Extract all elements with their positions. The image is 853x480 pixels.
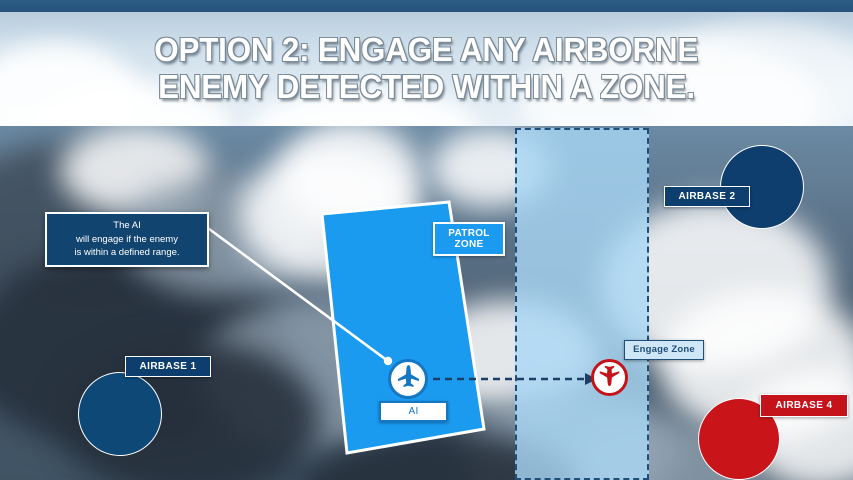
header-band <box>0 12 853 126</box>
top-accent-bar <box>0 0 853 12</box>
airbase-2-label[interactable]: AIRBASE 2 <box>664 186 750 207</box>
annotation-callout: The AI will engage if the enemy is withi… <box>45 212 209 267</box>
fighter-jet-blue-icon <box>395 363 422 395</box>
patrol-zone-label-line1: PATROL <box>448 228 489 240</box>
engage-zone-label[interactable]: Engage Zone <box>624 340 704 360</box>
airbase-1-label[interactable]: AIRBASE 1 <box>125 356 211 377</box>
annotation-line-3: is within a defined range. <box>74 246 179 259</box>
engage-zone-label-text: Engage Zone <box>633 345 695 356</box>
ai-unit-label[interactable]: AI <box>379 401 448 422</box>
airbase-4-label[interactable]: AIRBASE 4 <box>760 394 848 417</box>
airbase-1-circle[interactable] <box>78 372 162 456</box>
enemy-aircraft-marker[interactable] <box>591 359 628 396</box>
annotation-line-2: will engage if the enemy <box>76 233 178 246</box>
patrol-zone-label[interactable]: PATROL ZONE <box>433 222 505 256</box>
annotation-line-1: The AI <box>113 219 140 232</box>
slide-canvas: AIRBASE 1 AIRBASE 2 AIRBASE 4 PATROL ZON… <box>0 0 853 480</box>
fighter-jet-red-icon <box>597 363 622 393</box>
patrol-zone-label-line2: ZONE <box>455 239 484 251</box>
ai-unit-label-text: AI <box>408 406 418 418</box>
airbase-4-label-text: AIRBASE 4 <box>776 400 833 412</box>
airbase-1-label-text: AIRBASE 1 <box>140 361 197 373</box>
ai-aircraft-marker[interactable] <box>388 359 428 399</box>
engage-zone-region[interactable] <box>515 128 649 480</box>
airbase-2-label-text: AIRBASE 2 <box>679 191 736 203</box>
